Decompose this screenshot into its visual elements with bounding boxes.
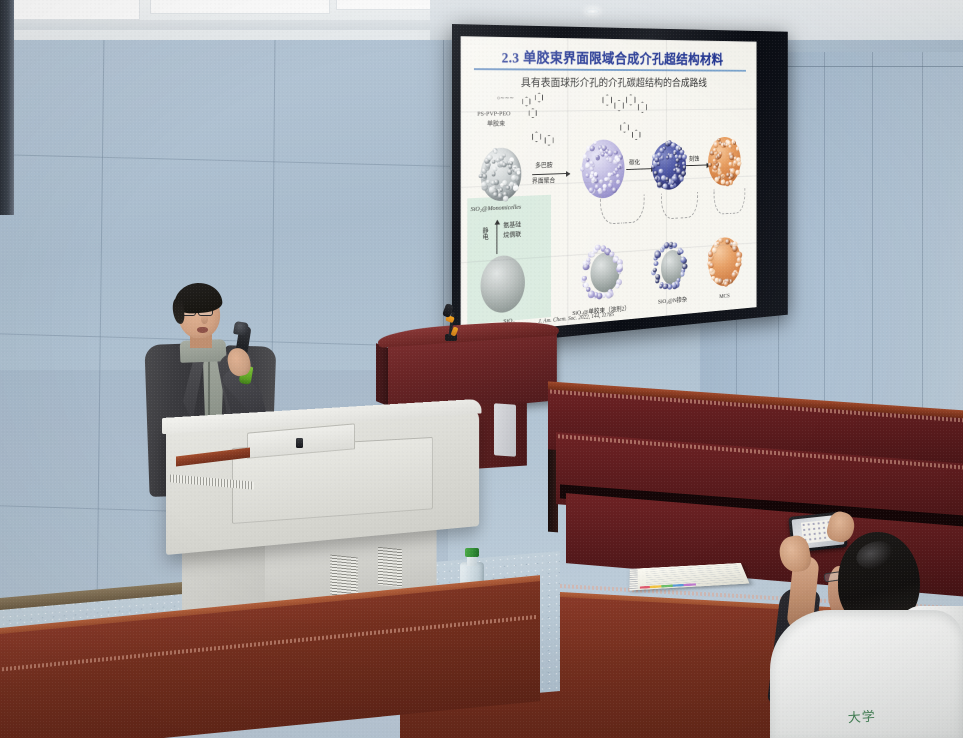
wall-seam bbox=[0, 154, 450, 167]
adsorption-arrow bbox=[497, 221, 498, 254]
zoom-guide bbox=[600, 195, 622, 224]
stage-speaker-box bbox=[494, 403, 516, 457]
benzene-ring-icon bbox=[620, 122, 628, 132]
benzene-ring-icon bbox=[532, 131, 541, 142]
reaction-arrow-2 bbox=[626, 168, 654, 170]
podium-lock[interactable] bbox=[296, 438, 303, 448]
benzene-ring-icon bbox=[603, 94, 612, 105]
ceiling-shadow-band bbox=[0, 20, 440, 30]
led-video-wall[interactable]: 2.3 单胶束界面限域合成介孔超结构材料 具有表面球形介孔的介孔碳超结构的合成路… bbox=[452, 24, 788, 348]
benzene-ring-icon bbox=[614, 100, 623, 111]
coupling-note-bottom: 烷偶联 bbox=[503, 231, 521, 239]
navy-shell-ring bbox=[652, 242, 686, 292]
benzene-ring-icon bbox=[535, 93, 543, 103]
row2-right-label: MCS bbox=[719, 293, 730, 301]
lilac-shell-bumps bbox=[581, 139, 624, 199]
wall-seam bbox=[443, 40, 444, 370]
bottle-cap[interactable] bbox=[465, 548, 479, 557]
slide-title: 2.3 单胶束界面限域合成介孔超结构材料 bbox=[461, 46, 757, 69]
step1-bottom-label: 界面聚合 bbox=[532, 177, 555, 185]
precursor-label: PS-PVP-PEO bbox=[477, 110, 510, 118]
benzene-ring-icon bbox=[632, 130, 640, 140]
benzene-ring-icon bbox=[529, 108, 537, 118]
benzene-ring-icon bbox=[638, 102, 647, 113]
monomicelle-shell-bumps bbox=[480, 147, 521, 201]
reaction-arrow-3 bbox=[686, 164, 710, 166]
presenter-nose bbox=[201, 315, 208, 324]
handheld-microphone-grille bbox=[233, 321, 249, 336]
zoom-guide bbox=[661, 193, 679, 220]
lilac-shell-ring bbox=[581, 244, 622, 302]
slide-title-rule bbox=[474, 68, 746, 72]
orange-shell-bumps bbox=[708, 137, 740, 186]
adsorption-label-top: 静电 bbox=[480, 227, 487, 240]
step1-top-label: 多巴胺 bbox=[535, 162, 552, 170]
navy-shell-bumps bbox=[652, 142, 686, 191]
step3-label: 刻蚀 bbox=[689, 156, 699, 163]
slide-subtitle: 具有表面球形介孔的介孔碳超结构的合成路线 bbox=[461, 74, 757, 90]
orange-shell-ring bbox=[708, 236, 740, 287]
precursor-label-cn: 单胶束 bbox=[487, 120, 505, 128]
ceiling-coffer-panel bbox=[0, 0, 140, 20]
podium-vent bbox=[378, 547, 402, 588]
wall-seam bbox=[922, 52, 923, 432]
zoom-guide bbox=[681, 192, 699, 218]
benzene-ring-icon bbox=[545, 135, 554, 146]
polymer-sketch-icon: ○∼∼∼ bbox=[497, 95, 514, 102]
ceiling-downlight bbox=[586, 9, 599, 14]
notebook-spiral-binding bbox=[629, 568, 637, 590]
slide-synthesis-scheme: ○∼∼∼ PS-PVP-PEO 单胶束 多巴胺 界面聚合 bbox=[461, 90, 757, 335]
lecture-hall-photo: 2.3 单胶束界面限域合成介孔超结构材料 具有表面球形介孔的介孔碳超结构的合成路… bbox=[0, 0, 963, 738]
zoom-guide bbox=[623, 194, 645, 223]
row2-mid-label: SiO₂@N掺杂 bbox=[658, 296, 687, 305]
zoom-guide bbox=[714, 189, 730, 215]
benzene-ring-icon bbox=[522, 97, 530, 107]
step2-label: 碳化 bbox=[629, 159, 640, 166]
presentation-slide: 2.3 单胶束界面限域合成介孔超结构材料 具有表面球形介孔的介孔碳超结构的合成路… bbox=[461, 36, 757, 335]
coupling-note-top: 氨基硅 bbox=[503, 221, 521, 229]
reaction-arrow-1 bbox=[532, 173, 569, 175]
wall-dark-column bbox=[0, 0, 14, 215]
ceiling-coffer-panel bbox=[150, 0, 330, 14]
benzene-ring-icon bbox=[626, 94, 635, 105]
zoom-guide bbox=[730, 188, 745, 214]
wall-seam bbox=[872, 52, 873, 462]
presenter-mouth bbox=[197, 327, 208, 333]
